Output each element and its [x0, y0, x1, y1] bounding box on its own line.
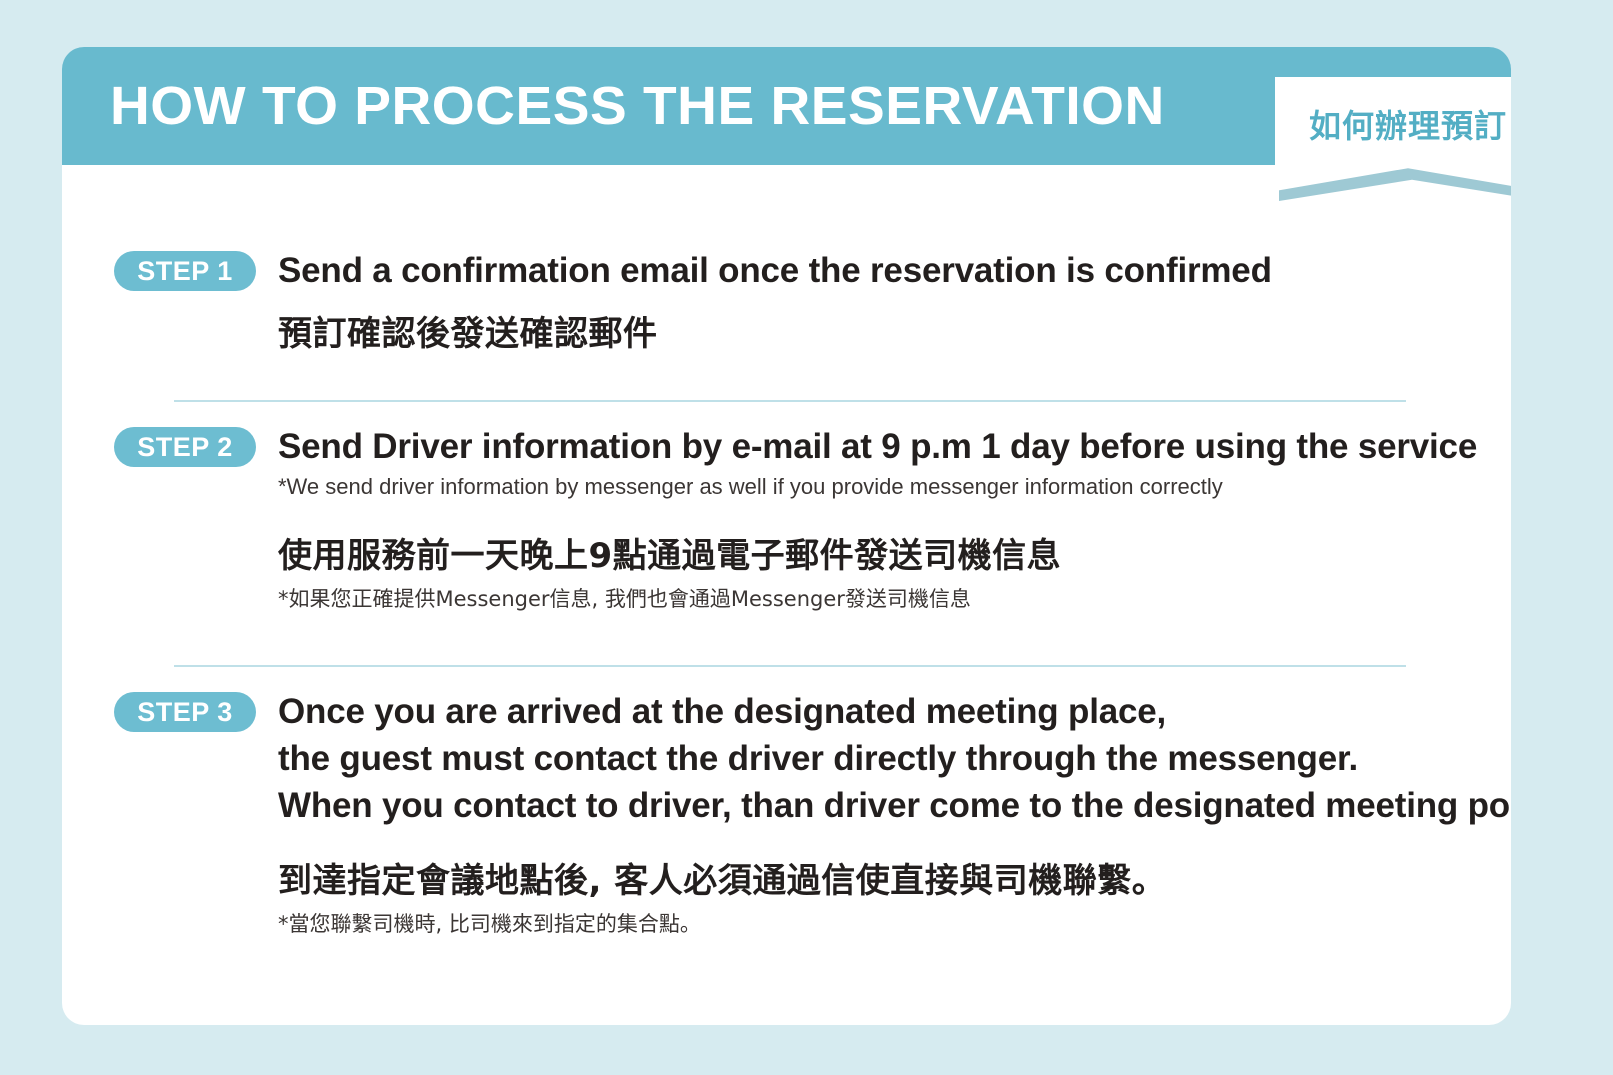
- spacer: [278, 829, 1471, 855]
- page-title: HOW TO PROCESS THE RESERVATION: [110, 75, 1165, 137]
- step-content-3: Once you are arrived at the designated m…: [278, 688, 1471, 941]
- section-divider: [174, 400, 1406, 402]
- spacer: [278, 294, 1471, 308]
- step-2-english-note: *We send driver information by messenger…: [278, 470, 1471, 504]
- spacer: [278, 504, 1471, 530]
- step-2-english-line-1: Send Driver information by e-mail at 9 p…: [278, 423, 1471, 470]
- poster-page: HOW TO PROCESS THE RESERVATION 如何辦理預訂 ST…: [0, 0, 1613, 1075]
- step-3-english-line-2: the guest must contact the driver direct…: [278, 735, 1471, 782]
- step-badge-3: STEP 3: [114, 692, 256, 732]
- step-1-english-line-1: Send a confirmation email once the reser…: [278, 247, 1471, 294]
- step-badge-1: STEP 1: [114, 251, 256, 291]
- step-badge-2: STEP 2: [114, 427, 256, 467]
- step-3-chinese-note: *當您聯繫司機時, 比司機來到指定的集合點。: [278, 907, 1471, 941]
- step-2-chinese-line-1: 使用服務前一天晚上9點通過電子郵件發送司機信息: [278, 530, 1471, 582]
- step-3-english-line-1: Once you are arrived at the designated m…: [278, 688, 1471, 735]
- step-3-chinese-line-1: 到達指定會議地點後, 客人必須通過信使直接與司機聯繫。: [278, 855, 1471, 907]
- step-content-2: Send Driver information by e-mail at 9 p…: [278, 423, 1471, 616]
- step-1-chinese-line-1: 預訂確認後發送確認郵件: [278, 308, 1471, 360]
- step-2-chinese-note: *如果您正確提供Messenger信息, 我們也會通過Messenger發送司機…: [278, 582, 1471, 616]
- step-content-1: Send a confirmation email once the reser…: [278, 247, 1471, 360]
- ribbon-label: 如何辦理預訂: [1275, 101, 1511, 147]
- card-body: STEP 1 Send a confirmation email once th…: [62, 165, 1511, 1025]
- instruction-card: HOW TO PROCESS THE RESERVATION 如何辦理預訂 ST…: [62, 47, 1511, 1025]
- section-divider: [174, 665, 1406, 667]
- step-3-english-line-3: When you contact to driver, than driver …: [278, 782, 1471, 829]
